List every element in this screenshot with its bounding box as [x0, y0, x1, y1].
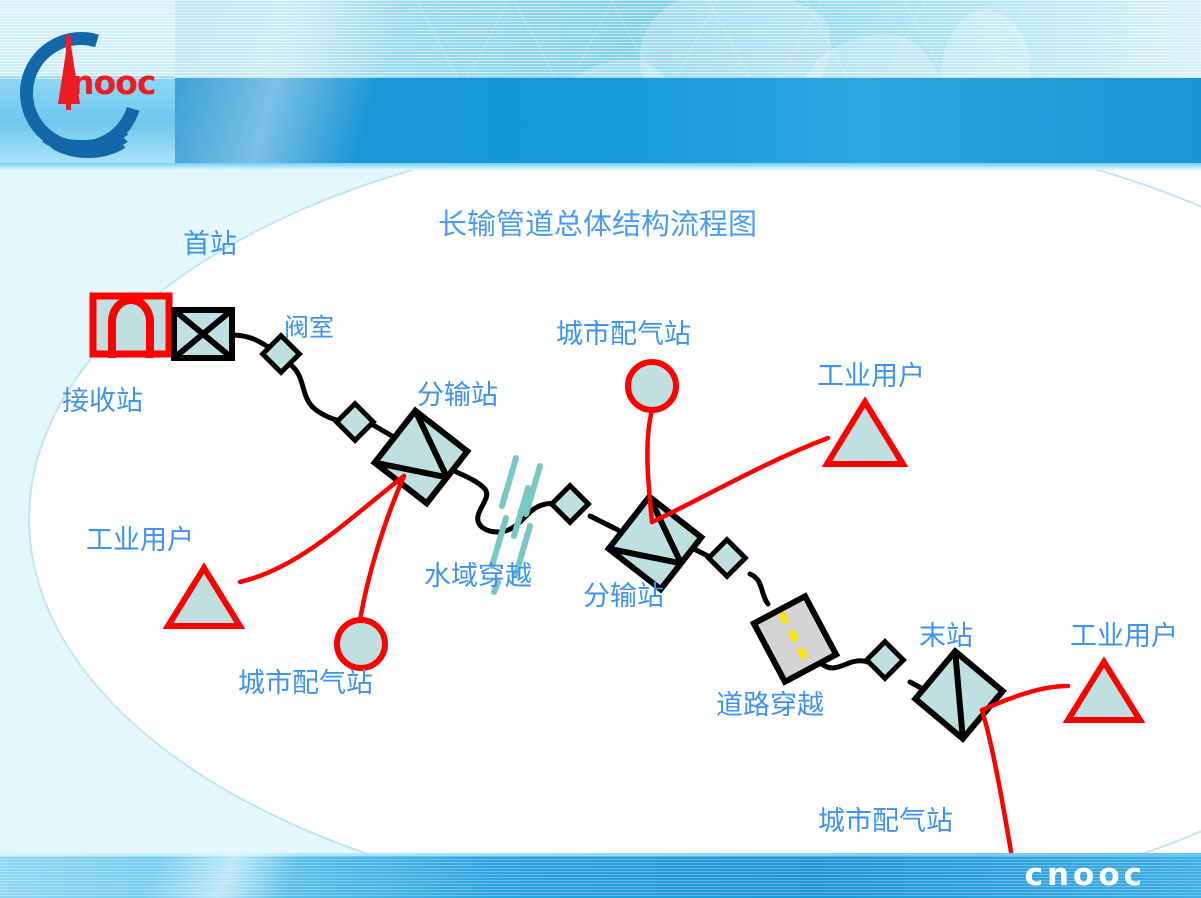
label-city-gas-station-3: 城市配气站: [818, 808, 953, 835]
label-water-crossing: 水域穿越: [424, 563, 532, 590]
valve-chamber-diamond-icon: [552, 486, 589, 523]
label-industrial-user-2: 工业用户: [817, 363, 925, 390]
diagram-title: 长输管道总体结构流程图: [438, 210, 757, 239]
label-receiving-station: 接收站: [62, 388, 143, 415]
first-station-node: [174, 310, 232, 358]
branch-to-industrial-user-1: [240, 476, 404, 582]
label-terminal-station: 末站: [919, 623, 973, 650]
receiving-station-square-icon: [93, 296, 169, 354]
city-gas-station-circle-icon: [337, 620, 385, 668]
road-crossing-node: [754, 596, 836, 682]
industrial-user-triangle-icon: [827, 402, 903, 464]
label-industrial-user-3: 工业用户: [1070, 623, 1178, 650]
distribution-station-2-node: [609, 497, 702, 590]
footer-wordmark: cnooc: [1025, 859, 1146, 891]
terminal-station-node: [915, 651, 1002, 738]
industrial-user-triangle-icon: [168, 568, 240, 626]
label-valve-chamber: 阀室: [284, 315, 334, 340]
footer-diagonal-highlight: [132, 853, 308, 898]
valve-chamber-diamond-icon: [867, 642, 904, 679]
label-industrial-user-1: 工业用户: [86, 527, 194, 554]
header-bottom-edge: [0, 163, 1201, 170]
industrial-user-2-node: [827, 402, 903, 464]
label-first-station: 首站: [183, 231, 237, 258]
label-road-crossing: 道路穿越: [716, 692, 824, 719]
branch-to-industrial-user-2: [652, 438, 828, 522]
label-city-gas-station-1: 城市配气站: [238, 670, 373, 697]
branch-to-city-gas-station-1: [360, 476, 404, 620]
receiving-station-node: [93, 296, 169, 358]
pipeline-flow-svg: [0, 170, 1201, 853]
industrial-user-3-node: [1068, 662, 1140, 720]
slide-canvas: nooc: [0, 0, 1201, 898]
valve-chamber-diamond-icon: [709, 540, 746, 577]
slide-header-banner: [0, 0, 1201, 170]
city-gas-station-circle-icon: [628, 362, 676, 410]
logo-wordmark: nooc: [71, 66, 155, 99]
pipeline-flow-diagram: 长输管道总体结构流程图 首站 接收站 阀室 分输站 工业用户 城市配气站 水域穿…: [0, 170, 1201, 853]
label-distribution-station-1: 分输站: [417, 382, 498, 409]
branch-to-city-gas-station-3: [982, 710, 1030, 853]
label-distribution-station-2: 分输站: [583, 583, 664, 610]
city-gas-station-2-node: [628, 362, 676, 410]
city-gas-station-1-node: [337, 620, 385, 668]
label-city-gas-station-2: 城市配气站: [556, 321, 691, 348]
industrial-user-1-node: [168, 568, 240, 626]
industrial-user-triangle-icon: [1068, 662, 1140, 720]
cnooc-logo: nooc: [14, 26, 154, 166]
valve-chamber-diamond-icon: [337, 404, 374, 441]
slide-footer-banner: cnooc: [0, 853, 1201, 898]
